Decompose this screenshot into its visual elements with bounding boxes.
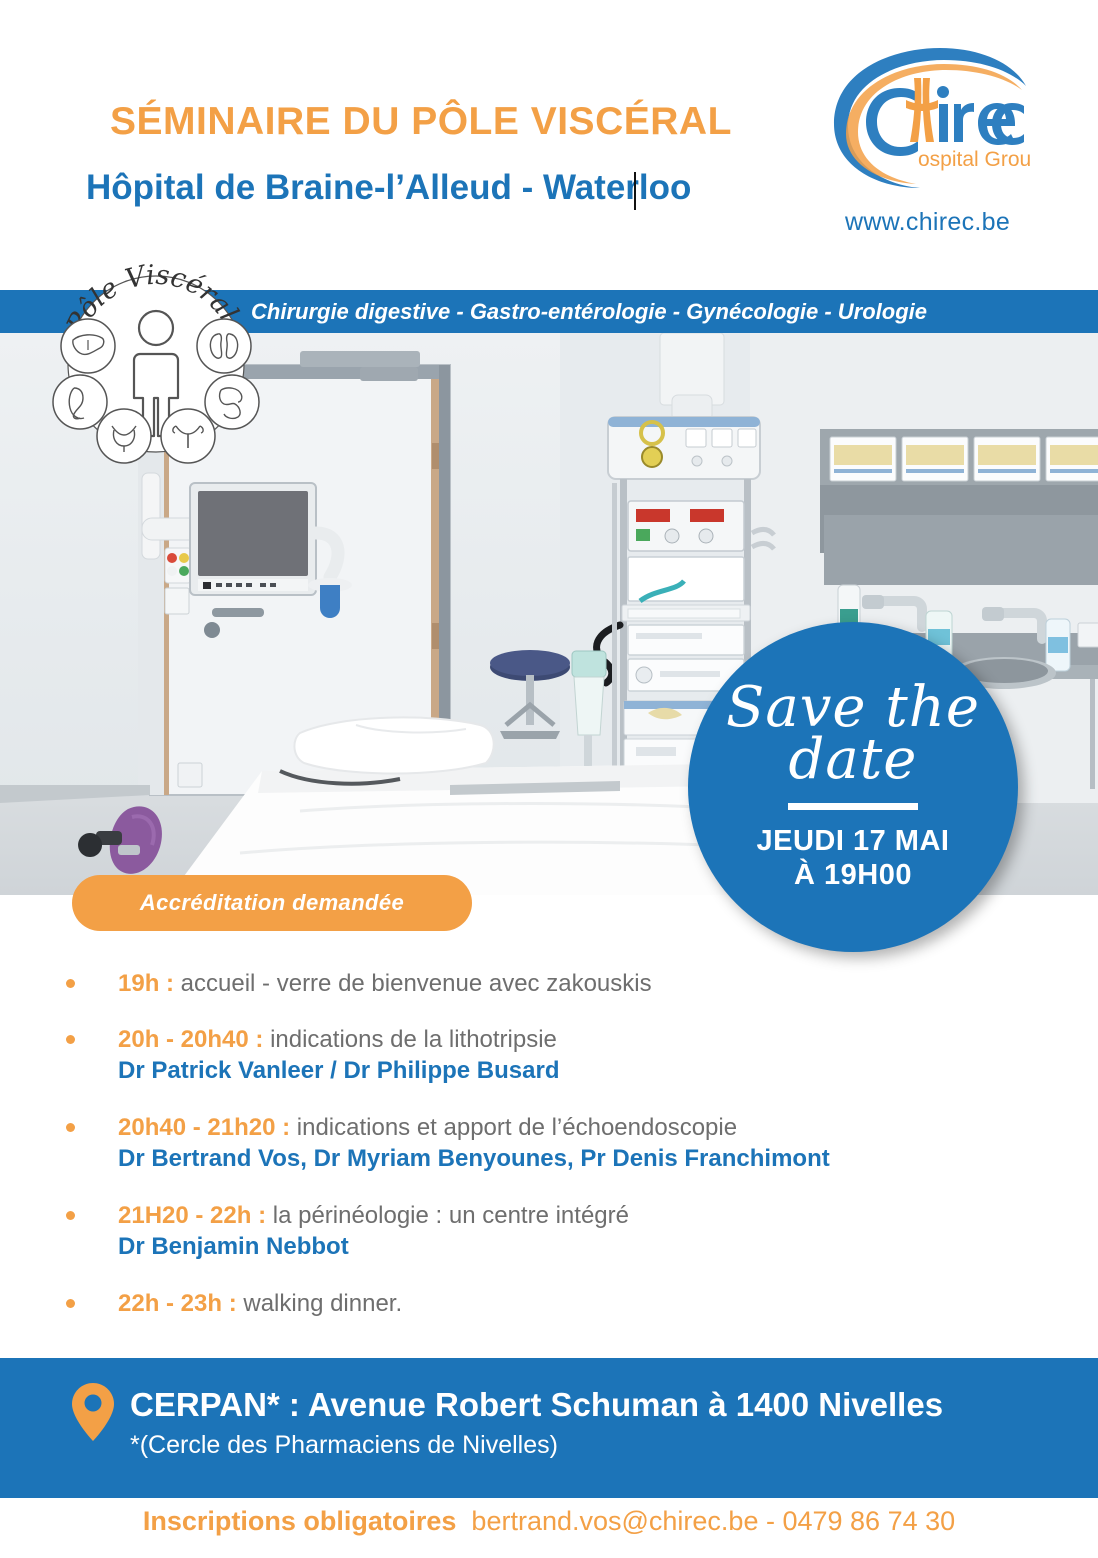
page-title: SÉMINAIRE DU PÔLE VISCÉRAL (110, 100, 732, 144)
liver-icon (61, 319, 115, 373)
event-date: JEUDI 17 MAI (757, 824, 950, 858)
stomach-icon (53, 375, 107, 429)
uterus-icon (161, 409, 215, 463)
save-the-date-divider (788, 803, 918, 810)
colon-icon (205, 375, 259, 429)
bladder-icon (97, 409, 151, 463)
save-the-date-script: Save the date (726, 682, 980, 787)
program-description: indications et apport de l’échoendoscopi… (290, 1114, 737, 1141)
pole-visceral-badge: Pôle Viscéral (36, 236, 276, 476)
program-line: 20h40 - 21h20 : indications et apport de… (118, 1112, 1098, 1143)
text-caret (634, 172, 636, 210)
program-line: 22h - 23h : walking dinner. (118, 1288, 1098, 1319)
program-time: 21H20 - 22h : (118, 1202, 266, 1229)
program-list: 19h : accueil - verre de bienvenue avec … (0, 968, 1098, 1344)
page-subtitle: Hôpital de Braine-l’Alleud - Waterloo (86, 168, 691, 208)
list-item: 21H20 - 22h : la périnéologie : un centr… (0, 1200, 1098, 1263)
registration-label: Inscriptions obligatoires (143, 1506, 457, 1536)
event-datetime: JEUDI 17 MAI À 19H00 (757, 824, 950, 892)
bullet-icon (66, 979, 75, 988)
bullet-icon (66, 1123, 75, 1132)
list-item: 20h40 - 21h20 : indications et apport de… (0, 1112, 1098, 1175)
event-time: À 19H00 (757, 858, 950, 892)
program-speakers: Dr Patrick Vanleer / Dr Philippe Busard (118, 1055, 1098, 1087)
location-pin-icon (72, 1383, 114, 1441)
program-time: 22h - 23h : (118, 1290, 237, 1317)
address-band (0, 1358, 1098, 1498)
chirec-logo: ospital Group (822, 42, 1032, 202)
program-speakers: Dr Benjamin Nebbot (118, 1231, 1098, 1263)
program-speakers: Dr Bertrand Vos, Dr Myriam Benyounes, Pr… (118, 1143, 1098, 1175)
kidneys-icon (197, 319, 251, 373)
accreditation-badge: Accréditation demandée (72, 875, 472, 931)
program-time: 20h40 - 21h20 : (118, 1114, 290, 1141)
program-line: 19h : accueil - verre de bienvenue avec … (118, 968, 1098, 999)
program-description: la périnéologie : un centre intégré (266, 1202, 629, 1229)
program-description: walking dinner. (237, 1290, 402, 1317)
save-the-date-badge: Save the date JEUDI 17 MAI À 19H00 (688, 622, 1018, 952)
website-url[interactable]: www.chirec.be (845, 208, 1010, 237)
svg-text:ospital Group: ospital Group (918, 148, 1032, 171)
program-line: 21H20 - 22h : la périnéologie : un centr… (118, 1200, 1098, 1231)
registration-separator: - (758, 1506, 782, 1536)
venue-address: CERPAN* : Avenue Robert Schuman à 1400 N… (130, 1386, 943, 1424)
bullet-icon (66, 1299, 75, 1308)
program-description: indications de la lithotripsie (263, 1026, 557, 1053)
bullet-icon (66, 1211, 75, 1220)
venue-address-note: *(Cercle des Pharmaciens de Nivelles) (130, 1431, 558, 1460)
list-item: 22h - 23h : walking dinner. (0, 1288, 1098, 1319)
registration-phone[interactable]: 0479 86 74 30 (782, 1506, 955, 1536)
poster-root: SÉMINAIRE DU PÔLE VISCÉRAL Hôpital de Br… (0, 0, 1098, 1558)
list-item: 19h : accueil - verre de bienvenue avec … (0, 968, 1098, 999)
program-line: 20h - 20h40 : indications de la lithotri… (118, 1024, 1098, 1055)
registration-line: Inscriptions obligatoires bertrand.vos@c… (0, 1506, 1098, 1537)
program-time: 20h - 20h40 : (118, 1026, 263, 1053)
registration-email[interactable]: bertrand.vos@chirec.be (471, 1506, 758, 1536)
program-description: accueil - verre de bienvenue avec zakous… (174, 970, 652, 997)
bullet-icon (66, 1035, 75, 1044)
list-item: 20h - 20h40 : indications de la lithotri… (0, 1024, 1098, 1087)
save-the-date-line2: date (726, 734, 980, 787)
program-time: 19h : (118, 970, 174, 997)
